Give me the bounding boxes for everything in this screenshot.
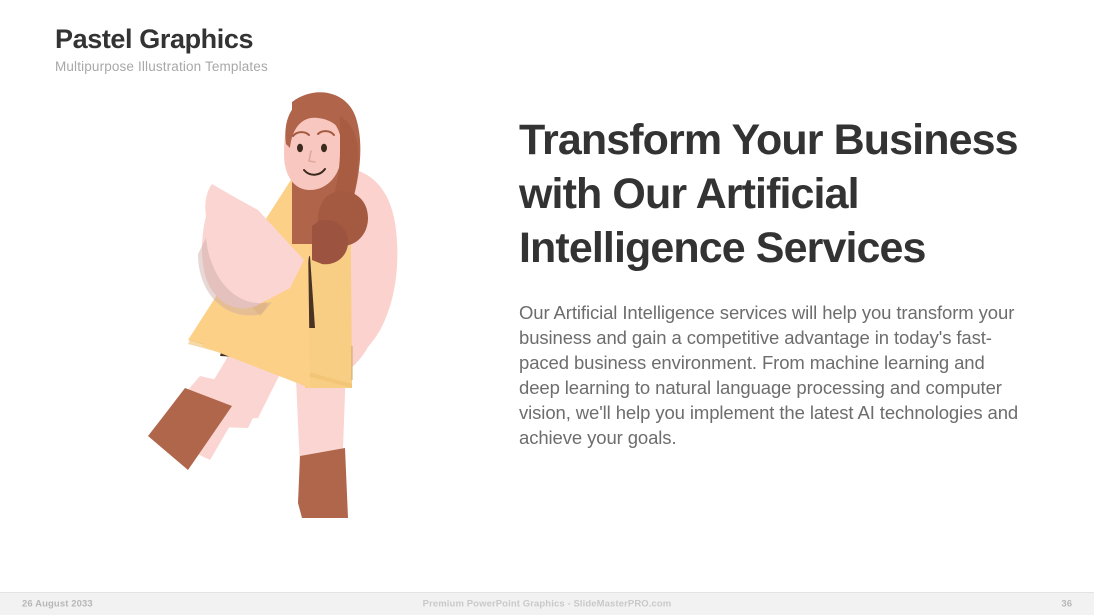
right-eye <box>321 144 327 152</box>
slide-footer: 26 August 2033 Premium PowerPoint Graphi… <box>0 592 1094 615</box>
footer-page-number: 36 <box>1061 599 1072 610</box>
content-column: Transform Your Business with Our Artific… <box>519 113 1039 450</box>
footer-date: 26 August 2033 <box>22 599 93 610</box>
woman-pointing-illustration <box>140 88 450 533</box>
slide-header: Pastel Graphics Multipurpose Illustratio… <box>55 24 575 75</box>
left-eye <box>297 144 303 152</box>
body-paragraph: Our Artificial Intelligence services wil… <box>519 300 1027 451</box>
illustration-svg <box>140 88 450 533</box>
page-title: Pastel Graphics <box>55 24 575 55</box>
page-subtitle: Multipurpose Illustration Templates <box>55 59 575 75</box>
headline: Transform Your Business with Our Artific… <box>519 113 1019 276</box>
slide-canvas: Pastel Graphics Multipurpose Illustratio… <box>0 0 1094 615</box>
footer-credit: Premium PowerPoint Graphics - SlideMaste… <box>423 599 672 610</box>
front-boot <box>298 448 348 518</box>
